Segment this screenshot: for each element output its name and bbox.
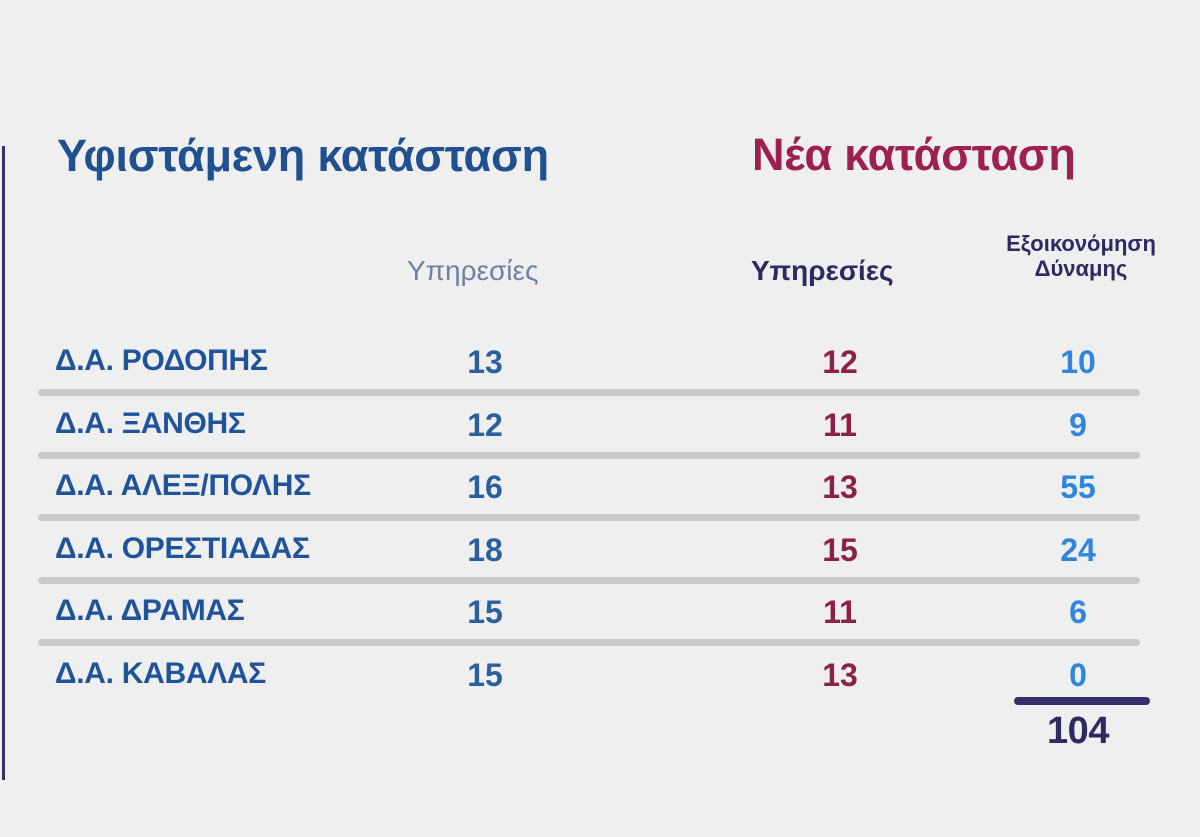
- total-rule: [1014, 697, 1150, 705]
- header-new-situation: Νέα κατάσταση: [752, 132, 1076, 177]
- cell-savings: 9: [998, 407, 1158, 444]
- table-row: Δ.Α. ΔΡΑΜΑΣ15116: [0, 583, 1200, 646]
- cell-new-services: 11: [760, 594, 920, 631]
- column-header-savings: Εξοικονόμηση Δύναμης: [995, 232, 1167, 281]
- cell-new-services: 13: [760, 469, 920, 506]
- row-label: Δ.Α. ΑΛΕΞ/ΠΟΛΗΣ: [55, 469, 311, 503]
- row-label: Δ.Α. ΚΑΒΑΛΑΣ: [55, 657, 266, 691]
- cell-savings: 24: [998, 532, 1158, 569]
- column-header-savings-line1: Εξοικονόμηση: [1006, 231, 1156, 256]
- header-existing-situation: Υφιστάμενη κατάσταση: [57, 133, 549, 178]
- cell-existing-services: 13: [405, 344, 565, 381]
- cell-new-services: 13: [760, 657, 920, 694]
- column-header-new-services: Υπηρεσίες: [751, 255, 894, 286]
- row-label: Δ.Α. ΡΟΔΟΠΗΣ: [55, 344, 268, 378]
- cell-new-services: 11: [760, 407, 920, 444]
- row-label: Δ.Α. ΔΡΑΜΑΣ: [55, 594, 245, 628]
- cell-existing-services: 18: [405, 532, 565, 569]
- cell-savings: 55: [998, 469, 1158, 506]
- cell-existing-services: 15: [405, 594, 565, 631]
- row-label: Δ.Α. ΟΡΕΣΤΙΑΔΑΣ: [55, 532, 310, 566]
- table-row: Δ.Α. ΡΟΔΟΠΗΣ131210: [0, 333, 1200, 396]
- cell-savings: 0: [998, 657, 1158, 694]
- cell-existing-services: 16: [405, 469, 565, 506]
- total-savings-value: 104: [998, 710, 1158, 753]
- cell-existing-services: 12: [405, 407, 565, 444]
- cell-savings: 10: [998, 344, 1158, 381]
- table-row: Δ.Α. ΟΡΕΣΤΙΑΔΑΣ181524: [0, 521, 1200, 584]
- row-label: Δ.Α. ΞΑΝΘΗΣ: [55, 407, 246, 441]
- cell-existing-services: 15: [405, 657, 565, 694]
- cell-new-services: 15: [760, 532, 920, 569]
- column-header-savings-line2: Δύναμης: [1035, 256, 1128, 281]
- column-header-existing-services: Υπηρεσίες: [407, 255, 538, 286]
- cell-savings: 6: [998, 594, 1158, 631]
- table-row: Δ.Α. ΑΛΕΞ/ΠΟΛΗΣ161355: [0, 458, 1200, 521]
- cell-new-services: 12: [760, 344, 920, 381]
- table-stage: Υφιστάμενη κατάσταση Νέα κατάσταση Υπηρε…: [0, 0, 1200, 837]
- table-body: Δ.Α. ΡΟΔΟΠΗΣ131210Δ.Α. ΞΑΝΘΗΣ12119Δ.Α. Α…: [0, 333, 1200, 708]
- table-row: Δ.Α. ΞΑΝΘΗΣ12119: [0, 396, 1200, 459]
